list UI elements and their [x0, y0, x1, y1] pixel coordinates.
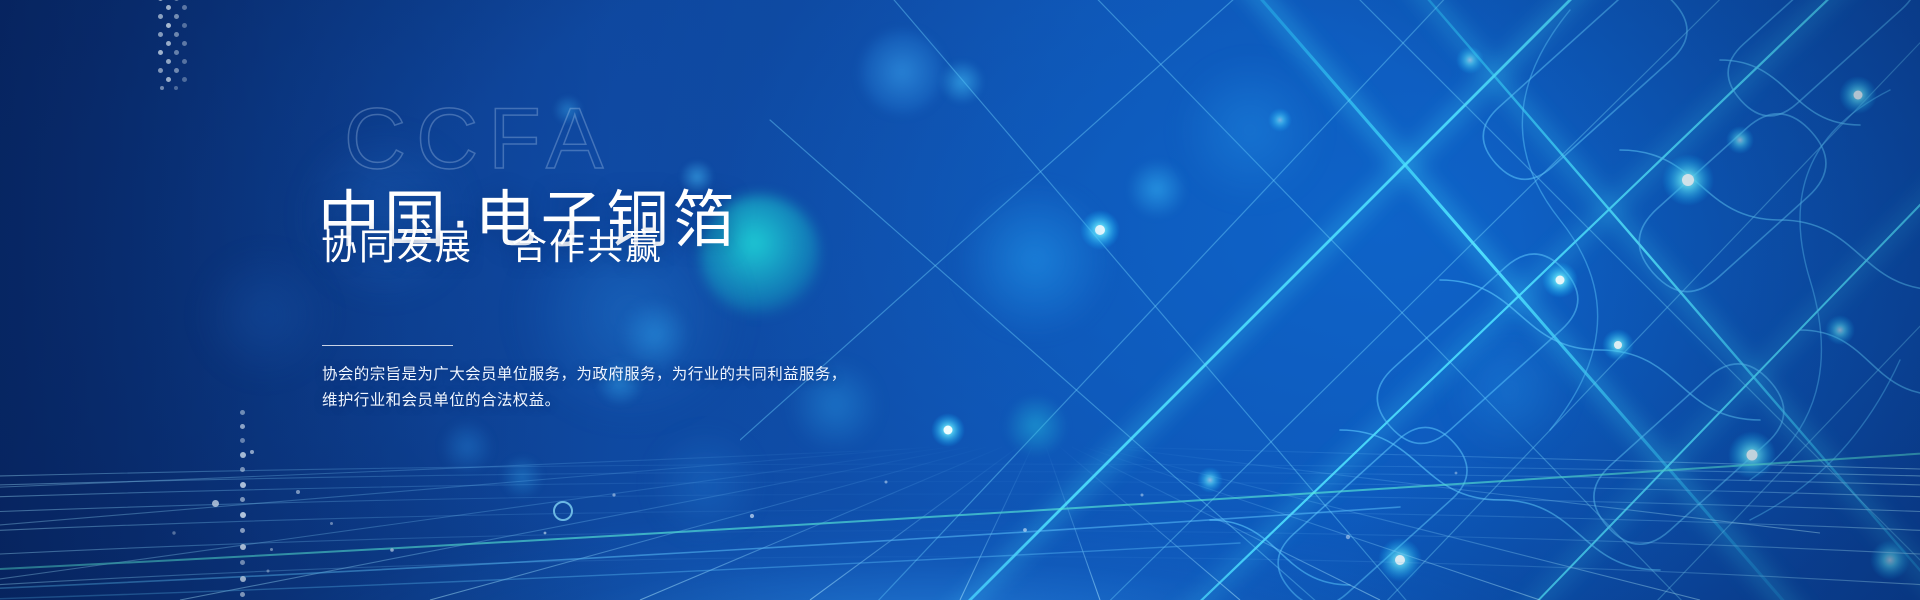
hero-banner: CCFA 中国·电子铜箔 协同发展 合作共赢 协会的宗旨是为广大会员单位服务，为…: [0, 0, 1920, 600]
background-vignette: [0, 0, 1920, 600]
banner-subtitle: 协同发展 合作共赢: [321, 225, 663, 268]
banner-description: 协会的宗旨是为广大会员单位服务，为政府服务，为行业的共同利益服务， 维护行业和会…: [322, 362, 847, 414]
title-divider: [322, 345, 453, 346]
banner-description-line-2: 维护行业和会员单位的合法权益。: [322, 388, 847, 414]
banner-description-line-1: 协会的宗旨是为广大会员单位服务，为政府服务，为行业的共同利益服务，: [322, 362, 847, 388]
